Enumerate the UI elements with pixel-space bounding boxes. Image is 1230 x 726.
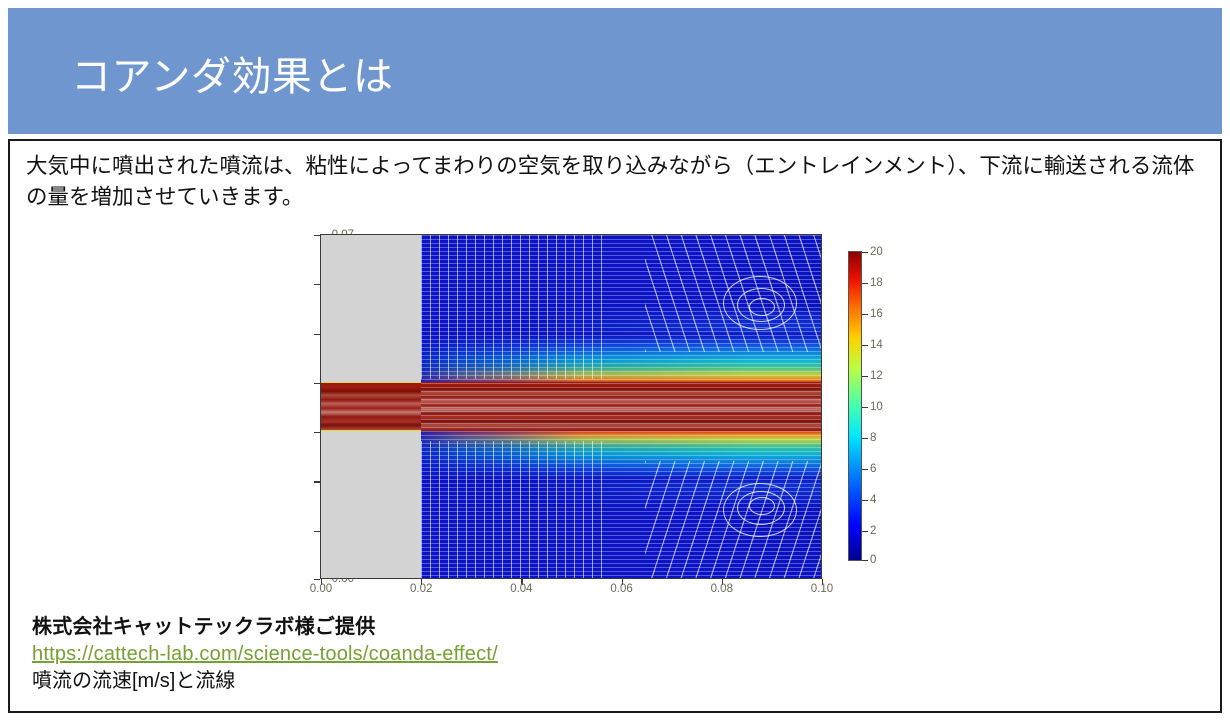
colorbar-tick-label: 2 — [870, 525, 876, 537]
colorbar-tick-label: 4 — [870, 494, 876, 506]
colorbar-tick-mark — [862, 560, 868, 561]
colorbar-tick-mark — [862, 252, 868, 253]
colorbar-tick-mark — [862, 283, 868, 284]
colorbar-tick-label: 12 — [870, 370, 883, 382]
colorbar-tick-mark — [862, 469, 868, 470]
colorbar-tick-mark — [862, 314, 868, 315]
colorbar-tick-label: 18 — [870, 277, 883, 289]
body-paragraph: 大気中に噴出された噴流は、粘性によってまわりの空気を取り込みながら（エントレイン… — [26, 151, 1206, 213]
credit-line: 株式会社キャットテックラボ様ご提供 — [32, 616, 375, 638]
streamlines-entrainment-upper — [421, 235, 605, 379]
colorbar-tick-label: 6 — [870, 463, 876, 475]
page-title: コアンダ効果とは — [71, 53, 393, 101]
colorbar-tick-label: 20 — [870, 246, 883, 258]
colorbar-tick-label: 10 — [870, 401, 883, 413]
colorbar-tick-mark — [862, 500, 868, 501]
x-tick-label: 0.04 — [491, 583, 551, 595]
legend-note: 噴流の流速[m/s]と流線 — [32, 668, 932, 695]
colorbar — [848, 251, 862, 561]
colorbar-tick-mark — [862, 345, 868, 346]
figure-caption: 株式会社キャットテックラボ様ご提供 https://cattech-lab.co… — [32, 614, 932, 695]
colorbar-tick-label: 14 — [870, 339, 883, 351]
colorbar-tick-mark — [862, 531, 868, 532]
recirculation-vortex-lower — [749, 497, 775, 515]
slide-content-box: 大気中に噴出された噴流は、粘性によってまわりの空気を取り込みながら（エントレイン… — [8, 139, 1222, 713]
colorbar-tick-label: 16 — [870, 308, 883, 320]
flow-field-figure: 0.07 0.06 0.05 0.04 0.03 0.02 0.01 0.00 … — [270, 227, 910, 602]
x-tick-label: 0.00 — [291, 583, 351, 595]
colorbar-tick-label: 0 — [870, 554, 876, 566]
colorbar-tick-label: 8 — [870, 432, 876, 444]
colorbar-tick-mark — [862, 438, 868, 439]
x-tick-label: 0.06 — [592, 583, 652, 595]
source-link[interactable]: https://cattech-lab.com/science-tools/co… — [32, 641, 932, 668]
streamlines-entrainment-lower — [421, 441, 605, 578]
slide-header-bar: コアンダ効果とは — [8, 8, 1222, 134]
contour-plot-area — [320, 234, 822, 579]
slide: コアンダ効果とは 大気中に噴出された噴流は、粘性によってまわりの空気を取り込みな… — [0, 0, 1230, 726]
x-tick-label: 0.02 — [391, 583, 451, 595]
x-tick-label: 0.10 — [792, 583, 852, 595]
flow-field-region — [421, 235, 821, 578]
x-tick-label: 0.08 — [692, 583, 752, 595]
colorbar-tick-mark — [862, 407, 868, 408]
colorbar-tick-mark — [862, 376, 868, 377]
